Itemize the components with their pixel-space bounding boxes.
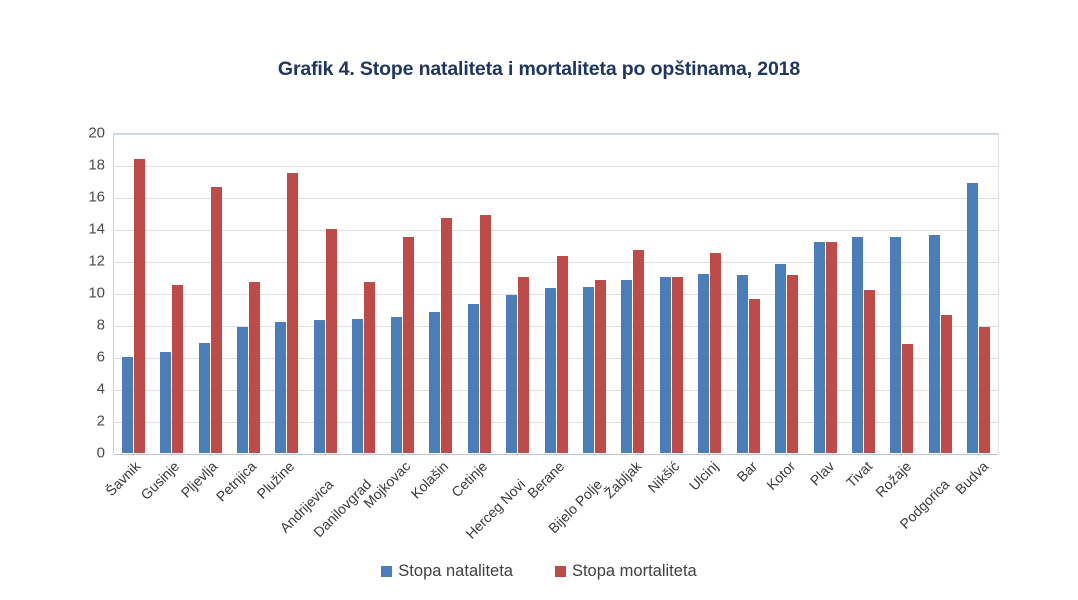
bar-natality[interactable] [160, 352, 171, 453]
bar-natality[interactable] [391, 317, 402, 453]
gridline [114, 454, 998, 455]
x-label-cell: Kotor [768, 456, 807, 541]
x-label-cell: Podgorica [922, 456, 961, 541]
bar-mortality[interactable] [941, 315, 952, 453]
x-label-cell: Žabljak [614, 456, 653, 541]
chart-title: Grafik 4. Stope nataliteta i mortaliteta… [0, 58, 1078, 81]
y-axis-tick-label: 20 [5, 125, 105, 142]
x-label-cell: Rožaje [883, 456, 922, 541]
bar-mortality[interactable] [864, 290, 875, 453]
bar-mortality[interactable] [595, 280, 606, 453]
bar-mortality[interactable] [979, 327, 990, 453]
x-label-cell: Tivat [845, 456, 884, 541]
bar-group [383, 134, 421, 453]
bar-group [306, 134, 344, 453]
bar-natality[interactable] [967, 183, 978, 453]
bar-group [960, 134, 998, 453]
bar-group [345, 134, 383, 453]
bar-natality[interactable] [506, 295, 517, 453]
bar-group [460, 134, 498, 453]
x-label-cell: Ulcinj [691, 456, 730, 541]
bar-mortality[interactable] [787, 275, 798, 453]
bar-natality[interactable] [737, 275, 748, 453]
bar-mortality[interactable] [287, 173, 298, 453]
bar-mortality[interactable] [672, 277, 683, 453]
bar-natality[interactable] [775, 264, 786, 453]
bar-natality[interactable] [660, 277, 671, 453]
bar-natality[interactable] [698, 274, 709, 453]
x-label-cell: Kolašin [421, 456, 460, 541]
legend-swatch-icon [381, 566, 392, 577]
bar-natality[interactable] [468, 304, 479, 453]
y-axis-tick-label: 18 [5, 157, 105, 174]
bar-group [806, 134, 844, 453]
x-label-cell: Nikšić [652, 456, 691, 541]
bar-mortality[interactable] [826, 242, 837, 453]
bar-group [652, 134, 690, 453]
x-axis-tick-label: Plav [806, 458, 837, 489]
bar-group [729, 134, 767, 453]
x-label-cell: Bijelo Polje [575, 456, 614, 541]
plot-area [113, 133, 999, 453]
bar-natality[interactable] [429, 312, 440, 453]
legend-swatch-icon [555, 566, 566, 577]
bar-group [614, 134, 652, 453]
y-axis-tick-label: 10 [5, 285, 105, 302]
bar-natality[interactable] [314, 320, 325, 453]
x-axis-tick-label: Bar [733, 458, 760, 485]
bar-mortality[interactable] [710, 253, 721, 453]
bar-mortality[interactable] [557, 256, 568, 453]
bar-chart-figure: Grafik 4. Stope nataliteta i mortaliteta… [0, 0, 1078, 600]
y-axis-tick-labels: 02468101214161820 [0, 133, 105, 453]
bar-group [498, 134, 536, 453]
bar-mortality[interactable] [364, 282, 375, 453]
bar-group [691, 134, 729, 453]
legend-label: Stopa nataliteta [398, 562, 513, 581]
bar-group [921, 134, 959, 453]
x-label-cell: Gusinje [152, 456, 191, 541]
bar-mortality[interactable] [518, 277, 529, 453]
x-axis-tick-label: Ulcinj [686, 458, 722, 494]
bar-mortality[interactable] [633, 250, 644, 453]
y-axis-tick-label: 8 [5, 317, 105, 334]
bar-mortality[interactable] [326, 229, 337, 453]
x-label-cell: Budva [960, 456, 999, 541]
legend-item[interactable]: Stopa nataliteta [381, 562, 513, 581]
bar-natality[interactable] [583, 287, 594, 453]
bar-mortality[interactable] [211, 187, 222, 453]
bar-group [114, 134, 152, 453]
bar-natality[interactable] [199, 343, 210, 453]
bar-group [883, 134, 921, 453]
bar-natality[interactable] [545, 288, 556, 453]
legend-label: Stopa mortaliteta [572, 562, 697, 581]
bar-mortality[interactable] [403, 237, 414, 453]
bar-natality[interactable] [621, 280, 632, 453]
bar-natality[interactable] [890, 237, 901, 453]
x-label-cell: Herceg Novi [498, 456, 537, 541]
bar-group [191, 134, 229, 453]
y-axis-tick-label: 16 [5, 189, 105, 206]
bar-natality[interactable] [122, 357, 133, 453]
bar-mortality[interactable] [249, 282, 260, 453]
y-axis-tick-label: 4 [5, 381, 105, 398]
y-axis-tick-label: 0 [5, 445, 105, 462]
x-axis-tick-label: Tivat [843, 458, 875, 490]
bar-group [422, 134, 460, 453]
y-axis-tick-label: 14 [5, 221, 105, 238]
bar-group [152, 134, 190, 453]
x-axis-tick-label: Kotor [763, 458, 798, 493]
y-axis-tick-label: 6 [5, 349, 105, 366]
bar-group [268, 134, 306, 453]
bar-mortality[interactable] [480, 215, 491, 453]
bar-group [575, 134, 613, 453]
bar-natality[interactable] [352, 319, 363, 453]
legend-item[interactable]: Stopa mortaliteta [555, 562, 697, 581]
bar-mortality[interactable] [172, 285, 183, 453]
bar-mortality[interactable] [134, 159, 145, 453]
bar-series-container [114, 134, 998, 453]
bar-natality[interactable] [929, 235, 940, 453]
bar-mortality[interactable] [902, 344, 913, 453]
bar-group [537, 134, 575, 453]
x-axis-category-labels: ŠavnikGusinjePljevljaPetnjicaPlužineAndr… [113, 456, 999, 541]
chart-legend: Stopa natalitetaStopa mortaliteta [0, 562, 1078, 581]
bar-mortality[interactable] [749, 299, 760, 453]
bar-group [767, 134, 805, 453]
bar-natality[interactable] [814, 242, 825, 453]
bar-mortality[interactable] [441, 218, 452, 453]
bar-group [844, 134, 882, 453]
bar-natality[interactable] [852, 237, 863, 453]
bar-natality[interactable] [237, 327, 248, 453]
x-label-cell: Bar [729, 456, 768, 541]
y-axis-tick-label: 12 [5, 253, 105, 270]
x-axis-tick-label: Šavnik [103, 458, 144, 499]
y-axis-tick-label: 2 [5, 413, 105, 430]
bar-group [229, 134, 267, 453]
bar-natality[interactable] [275, 322, 286, 453]
x-label-cell: Plav [806, 456, 845, 541]
